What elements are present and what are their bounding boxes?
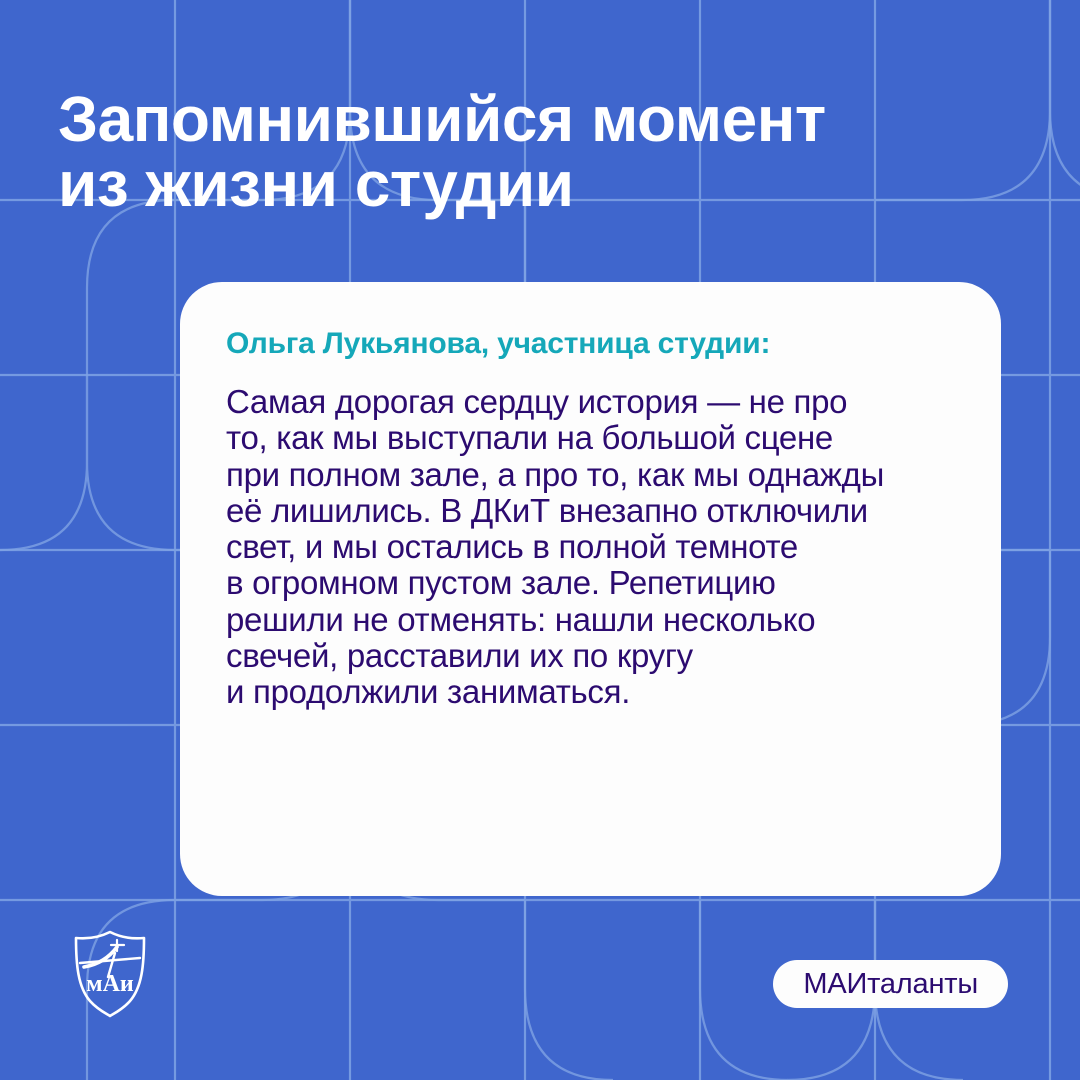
quote-card: Ольга Лукьянова, участница студии: Самая… <box>180 282 1001 896</box>
mai-shield-logo: мАи <box>62 925 158 1021</box>
quote-body: Самая дорогая сердцу история — не про то… <box>226 384 955 711</box>
page-title: Запомнившийся момент из жизни студии <box>58 87 1018 218</box>
brand-badge[interactable]: МАИталанты <box>773 960 1008 1008</box>
mai-logo-text: мАи <box>86 971 134 997</box>
quote-attribution: Ольга Лукьянова, участница студии: <box>226 326 955 362</box>
brand-badge-label: МАИталанты <box>803 970 978 999</box>
poster-canvas: Запомнившийся момент из жизни студии Оль… <box>0 0 1080 1080</box>
